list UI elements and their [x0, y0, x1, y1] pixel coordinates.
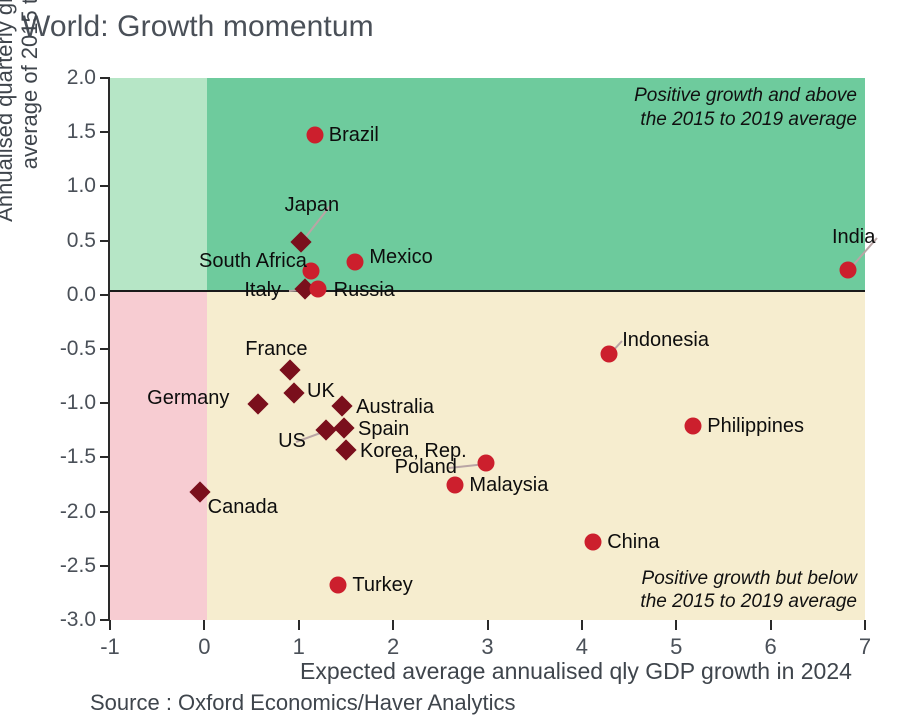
data-label-australia: Australia	[356, 396, 434, 419]
data-label-south-africa: South Africa	[199, 250, 307, 273]
data-label-spain: Spain	[358, 418, 409, 441]
quadrant-negative-growth-below-average	[110, 290, 207, 620]
x-tick--1	[109, 620, 111, 630]
x-tick-label--1: -1	[100, 634, 120, 660]
data-label-japan: Japan	[285, 194, 340, 217]
y-tick-1.5	[100, 131, 110, 133]
x-tick-5	[675, 620, 677, 630]
data-label-mexico: Mexico	[369, 246, 432, 269]
y-tick--1.5	[100, 456, 110, 458]
page-title: World: Growth momentum	[22, 10, 374, 44]
y-tick--2.5	[100, 565, 110, 567]
data-point-brazil[interactable]	[306, 127, 323, 144]
x-tick-4	[581, 620, 583, 630]
x-tick-1	[298, 620, 300, 630]
y-tick-2.0	[100, 77, 110, 79]
y-tick-1.0	[100, 185, 110, 187]
data-label-russia: Russia	[334, 279, 395, 302]
data-label-indonesia: Indonesia	[622, 329, 709, 352]
y-tick-label-1.0: 1.0	[67, 174, 96, 198]
y-tick-label--1.5: -1.5	[60, 445, 96, 469]
data-label-turkey: Turkey	[352, 574, 412, 597]
chart-root: World: Growth momentum 2.01.51.00.50.0-0…	[0, 0, 905, 725]
data-label-philippines: Philippines	[707, 415, 804, 438]
data-point-india[interactable]	[840, 261, 857, 278]
x-tick-label-0: 0	[198, 634, 210, 660]
y-tick-0.0	[100, 294, 110, 296]
data-point-indonesia[interactable]	[601, 346, 618, 363]
x-axis-title: Expected average annualised qly GDP grow…	[300, 658, 852, 685]
plot-area: Positive growth and above the 2015 to 20…	[110, 78, 865, 620]
data-point-philippines[interactable]	[685, 417, 702, 434]
data-label-brazil: Brazil	[329, 124, 379, 147]
zero-reference-line	[110, 290, 865, 292]
x-tick-label-5: 5	[670, 634, 682, 660]
y-tick-label-2.0: 2.0	[67, 66, 96, 90]
x-tick-label-7: 7	[859, 634, 871, 660]
quadrant-negative-growth-above-average	[110, 78, 207, 290]
data-label-poland: Poland	[395, 456, 457, 479]
y-tick--2.0	[100, 511, 110, 513]
x-tick-label-1: 1	[293, 634, 305, 660]
data-point-russia[interactable]	[309, 281, 326, 298]
data-label-us: US	[278, 430, 306, 453]
x-tick-label-6: 6	[765, 634, 777, 660]
x-tick-3	[487, 620, 489, 630]
data-label-canada: Canada	[208, 496, 278, 519]
y-tick--0.5	[100, 348, 110, 350]
data-label-italy: Italy	[244, 279, 281, 302]
y-tick-label-1.5: 1.5	[67, 120, 96, 144]
x-tick-0	[203, 620, 205, 630]
data-label-india: India	[832, 226, 875, 249]
x-tick-label-3: 3	[481, 634, 493, 660]
data-label-france: France	[245, 338, 307, 361]
x-tick-label-2: 2	[387, 634, 399, 660]
annotation-top-right: Positive growth and above the 2015 to 20…	[634, 84, 857, 132]
x-tick-6	[770, 620, 772, 630]
source-note: Source : Oxford Economics/Haver Analytic…	[90, 690, 516, 716]
y-tick-label--2.0: -2.0	[60, 500, 96, 524]
data-point-turkey[interactable]	[330, 577, 347, 594]
y-tick-label--2.5: -2.5	[60, 554, 96, 578]
y-tick--1.0	[100, 402, 110, 404]
data-label-uk: UK	[307, 380, 335, 403]
annotation-bottom-right: Positive growth but below the 2015 to 20…	[640, 567, 857, 615]
y-tick-label--3.0: -3.0	[60, 608, 96, 632]
data-point-china[interactable]	[585, 533, 602, 550]
y-tick-label--1.0: -1.0	[60, 391, 96, 415]
data-label-malaysia: Malaysia	[469, 474, 548, 497]
data-label-china: China	[607, 531, 659, 554]
data-point-malaysia[interactable]	[447, 476, 464, 493]
x-tick-7	[864, 620, 866, 630]
y-tick-0.5	[100, 240, 110, 242]
x-tick-2	[392, 620, 394, 630]
y-tick-label-0.5: 0.5	[67, 229, 96, 253]
y-axis-title: Annualised quarterly growth versus avera…	[0, 0, 43, 330]
data-point-poland[interactable]	[477, 454, 494, 471]
x-tick-label-4: 4	[576, 634, 588, 660]
data-label-germany: Germany	[147, 387, 229, 410]
y-tick-label-0.0: 0.0	[67, 283, 96, 307]
y-tick-label--0.5: -0.5	[60, 337, 96, 361]
data-point-mexico[interactable]	[347, 254, 364, 271]
